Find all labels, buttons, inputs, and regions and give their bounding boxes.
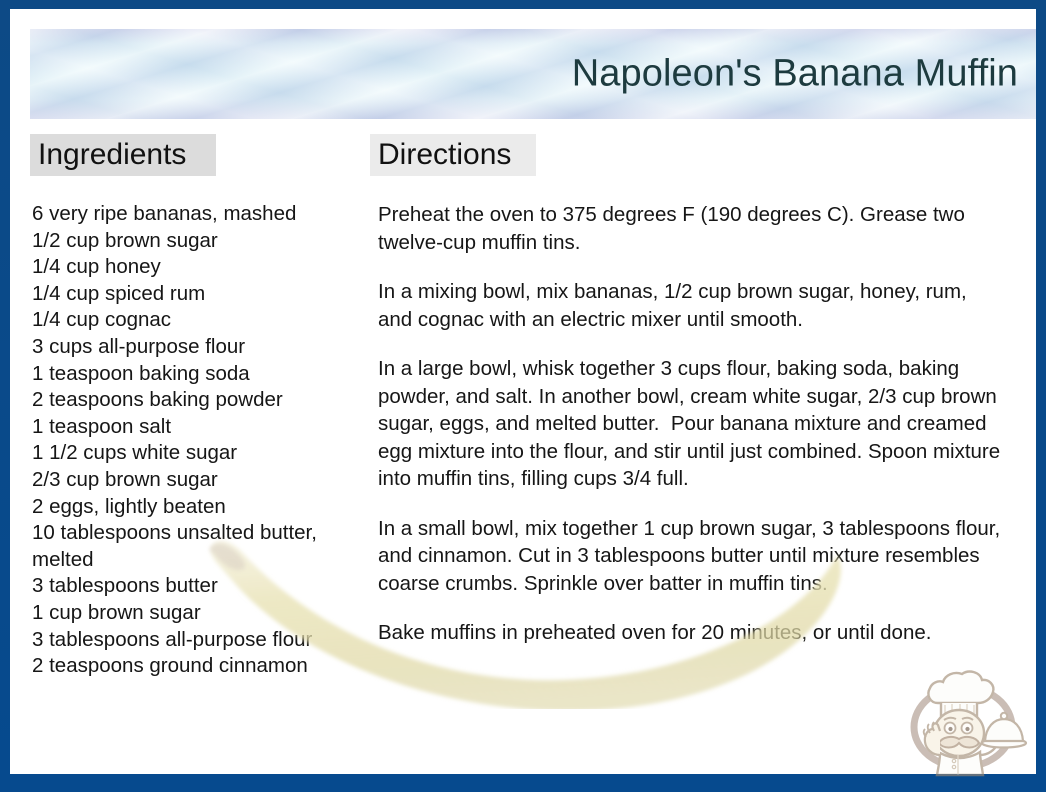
direction-step: Preheat the oven to 375 degrees F (190 d… [378,201,1006,256]
ingredient-item: 1/4 cup honey [32,254,358,281]
ingredient-item: 1/2 cup brown sugar [32,228,358,255]
ingredient-item: 2/3 cup brown sugar [32,467,358,494]
ingredient-item: 10 tablespoons unsalted butter, [32,520,358,547]
ingredient-item: 1 cup brown sugar [32,600,358,627]
title-banner: Napoleon's Banana Muffin [30,29,1036,119]
ingredient-item: 1 teaspoon baking soda [32,361,358,388]
ingredient-item: 1/4 cup spiced rum [32,281,358,308]
ingredient-item: 3 tablespoons all-purpose flour [32,627,358,654]
slide-canvas: Napoleon's Banana Muffin Ingredients 6 v… [10,9,1036,774]
ingredients-heading-tab: Ingredients [30,134,216,176]
ingredient-item: 3 tablespoons butter [32,573,358,600]
directions-heading-tab: Directions [370,134,536,176]
ingredients-heading-label: Ingredients [38,140,186,170]
ingredient-item: 3 cups all-purpose flour [32,334,358,361]
chef-mascot-logo-icon [900,657,1030,782]
directions-heading-label: Directions [378,140,511,170]
ingredient-item: 2 teaspoons baking powder [32,387,358,414]
ingredient-item: melted [32,547,358,574]
page-title: Napoleon's Banana Muffin [572,53,1018,96]
directions-body: Preheat the oven to 375 degrees F (190 d… [378,201,1006,669]
ingredient-item: 1/4 cup cognac [32,307,358,334]
direction-step: In a small bowl, mix together 1 cup brow… [378,515,1006,598]
ingredient-item: 2 eggs, lightly beaten [32,494,358,521]
direction-step: Bake muffins in preheated oven for 20 mi… [378,619,1006,647]
ingredient-item: 1 teaspoon salt [32,414,358,441]
ingredient-item: 2 teaspoons ground cinnamon [32,653,358,680]
direction-step: In a large bowl, whisk together 3 cups f… [378,355,1006,493]
slide-frame: Napoleon's Banana Muffin Ingredients 6 v… [0,0,1046,792]
ingredient-item: 6 very ripe bananas, mashed [32,201,358,228]
direction-step: In a mixing bowl, mix bananas, 1/2 cup b… [378,278,1006,333]
ingredient-item: 1 1/2 cups white sugar [32,440,358,467]
ingredient-list: 6 very ripe bananas, mashed1/2 cup brown… [32,201,358,680]
